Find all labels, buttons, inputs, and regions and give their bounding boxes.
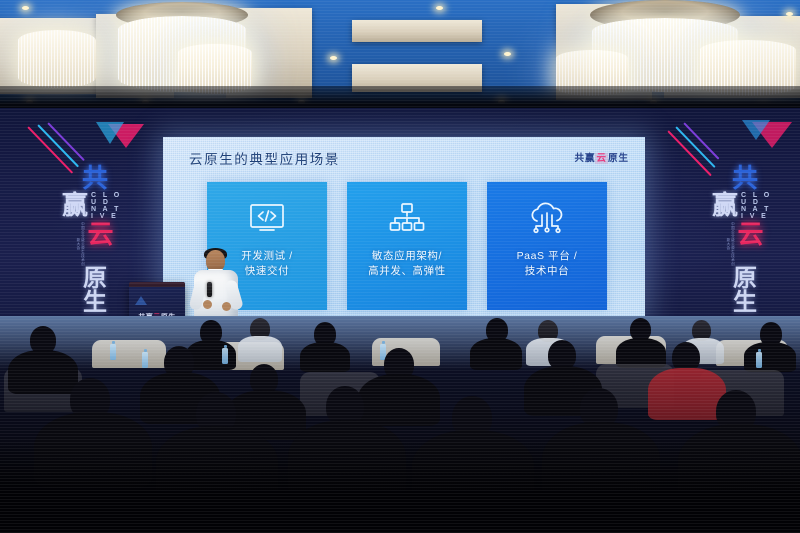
audience-shoulders [358,374,440,426]
card1-line1: 开发测试 / [241,249,292,264]
slide-card-agile-architecture: 敏态应用架构/ 高并发、高弹性 [347,182,467,310]
slide-card-paas-platform-label: PaaS 平台 / 技术中台 [517,249,578,279]
water-bottle [756,352,762,368]
speaker-left-hand [203,300,212,309]
speaker-head [206,250,225,272]
downlight [504,52,511,56]
chair-cover [92,340,166,368]
audience-shoulders [8,350,78,394]
network-hierarchy-icon [387,198,427,238]
slide-card-dev-test-label: 开发测试 / 快速交付 [241,249,292,279]
water-bottle [222,348,228,364]
downlight [436,6,443,10]
handheld-microphone-icon [207,282,212,297]
chandelier [18,30,96,88]
banner-left-sheng: 生 [62,291,128,315]
speaker-right-hand [222,302,231,311]
card2-line1: 敏态应用架构/ [368,249,446,264]
card3-line1: PaaS 平台 / [517,249,578,264]
ceiling-soffit [352,20,482,42]
podium-decorative-triangle [135,296,147,305]
banner-right-sheng: 生 [712,291,778,315]
audience-shoulders [470,338,522,370]
banner-right-en-line1: C L O U D [741,192,778,206]
slide-card-agile-architecture-label: 敏态应用架构/ 高并发、高弹性 [368,249,446,279]
audience-torso [238,336,282,362]
ceiling [0,0,800,112]
banner-left-en-line2: N A T I V E [91,206,128,220]
cloud-circuit-icon [526,198,568,238]
slide-logo-suffix: 原生 [608,153,629,164]
card3-line2: 技术中台 [517,264,578,279]
banner-left-yuan: 原 [62,267,128,291]
banner-right-yuan: 原 [712,267,778,291]
decorative-triangle [96,122,124,144]
slide-logo: 共赢云原生 [574,150,629,164]
code-brackets-icon [247,198,287,238]
wall-banner-left: 共 赢 C L O U D N A T I V E 中国企业级云原生技术创新大会… [62,166,128,315]
audience-shoulders [300,342,350,372]
banner-right-en-line2: N A T I V E [741,206,778,220]
downlight [22,6,29,10]
conference-photo: 共 赢 C L O U D N A T I V E 中国企业级云原生技术创新大会… [0,0,800,533]
banner-left-ying: 赢 [62,193,88,218]
decorative-triangle [742,120,770,140]
card1-line2: 快速交付 [241,264,292,279]
banner-right-gong: 共 [712,166,778,191]
slide-logo-highlight: 云 [595,153,608,164]
water-bottle [142,352,148,368]
card2-line2: 高并发、高弹性 [368,264,446,279]
banner-left-subtitle: 中国企业级云原生技术创新大会 [77,222,86,266]
water-bottle [110,344,116,360]
audience-torso-red [648,368,726,420]
slide-title: 云原生的典型应用场景 [189,148,340,168]
banner-right-yun: 云 [737,222,763,247]
banner-left-en-line1: C L O U D [91,192,128,206]
audience-shoulders [744,342,796,372]
audience [0,316,800,533]
downlight [786,12,793,16]
banner-left-yun: 云 [87,222,113,247]
podium-top-surface [129,282,185,287]
slide-card-paas-platform: PaaS 平台 / 技术中台 [487,182,607,310]
slide-cards: 开发测试 / 快速交付 [207,182,607,310]
banner-left-gong: 共 [62,166,128,191]
banner-right-subtitle: 中国企业级云原生技术创新大会 [727,222,736,266]
wall-banner-right: 共 赢 C L O U D N A T I V E 中国企业级云原生技术创新大会… [712,166,778,315]
slide-logo-prefix: 共赢 [574,153,595,164]
banner-right-ying: 赢 [712,193,738,218]
downlight [330,56,337,60]
